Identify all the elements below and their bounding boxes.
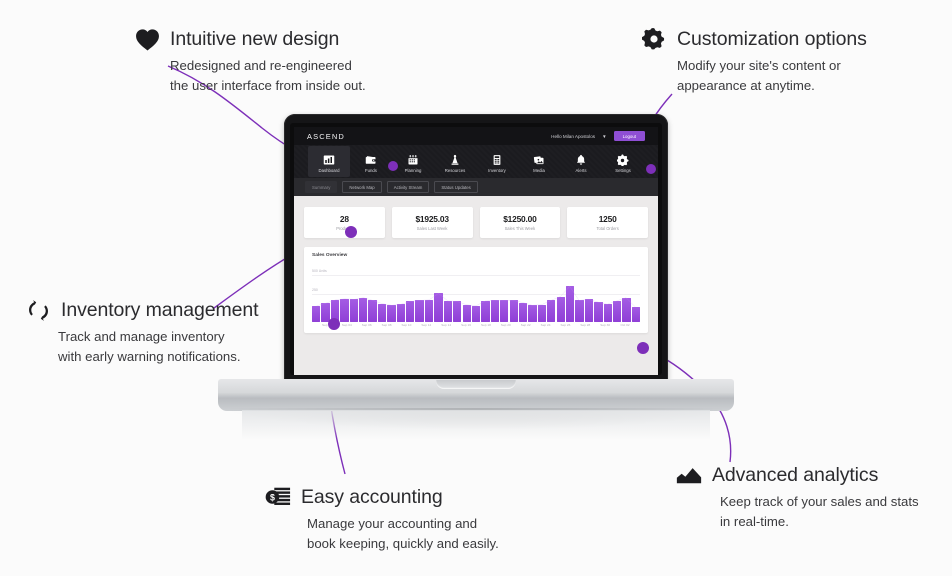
stat-card-sales-this-week[interactable]: $1250.00 Sales This Week (480, 207, 561, 238)
chart-x-label (312, 323, 322, 331)
callout-customization-options: Customization options Modify your site's… (641, 26, 867, 95)
chart-x-label (570, 323, 580, 331)
calculator-icon (491, 153, 504, 166)
chart-x-label: Sep 22 (521, 323, 531, 331)
callout-intuitive-new-design: Intuitive new design Redesigned and re-e… (134, 26, 366, 95)
user-greeting: Hello Milan Apostolos (551, 134, 595, 139)
chart-x-label (630, 323, 640, 331)
laptop-bezel: ASCEND Hello Milan Apostolos ▼ Logout (290, 123, 662, 375)
chart-x-label: Sep 28 (580, 323, 590, 331)
stat-value: 1250 (599, 214, 617, 224)
nav-label: Resources (445, 168, 466, 173)
chart-x-label (471, 323, 481, 331)
chart-x-label: Oct 02 (620, 323, 630, 331)
callout-header: Intuitive new design (134, 26, 366, 52)
wallet-icon (365, 153, 378, 166)
callout-title: Advanced analytics (712, 464, 878, 487)
laptop-mockup: ASCEND Hello Milan Apostolos ▼ Logout (218, 114, 734, 424)
area-chart-icon (676, 462, 702, 488)
nav-label: Alerts (576, 168, 587, 173)
nav-item-settings[interactable]: Settings (602, 146, 644, 177)
chart-x-label (431, 323, 441, 331)
chart-x-label (411, 323, 421, 331)
sales-overview-chart: Sales Overview 500 Units 250 Sep 02Sep 0… (304, 247, 648, 333)
tab-activity-stream[interactable]: Activity Stream (387, 181, 430, 193)
callout-description: Manage your accounting and book keeping,… (307, 514, 499, 553)
dashboard-nav: Dashboard Funds Planning (294, 145, 658, 178)
laptop-reflection (242, 410, 710, 440)
tab-network-map[interactable]: Network Map (342, 181, 381, 193)
tab-status-updates[interactable]: Status Updates (434, 181, 477, 193)
gear-icon (617, 153, 630, 166)
nav-item-funds[interactable]: Funds (350, 146, 392, 177)
chart-x-label (491, 323, 501, 331)
nav-label: Dashboard (318, 168, 339, 173)
svg-text:$: $ (270, 492, 275, 502)
app-logo: ASCEND (307, 132, 345, 141)
nav-label: Planning (405, 168, 422, 173)
stat-card-products[interactable]: 28 Products (304, 207, 385, 238)
photos-icon (533, 153, 546, 166)
nav-item-planning[interactable]: Planning (392, 146, 434, 177)
logout-button[interactable]: Logout (614, 131, 645, 141)
stat-label: Sales Last Week (417, 226, 448, 231)
dashboard-topbar: ASCEND Hello Milan Apostolos ▼ Logout (294, 127, 658, 145)
callout-title: Easy accounting (301, 486, 443, 509)
callout-advanced-analytics: Advanced analytics Keep track of your sa… (676, 462, 919, 531)
chart-x-label (590, 323, 600, 331)
chart-x-label (531, 323, 541, 331)
nav-item-media[interactable]: Media (518, 146, 560, 177)
chart-x-label: Sep 18 (481, 323, 491, 331)
topbar-right: Hello Milan Apostolos ▼ Logout (551, 131, 645, 141)
dashboard-tabbar: Summary Network Map Activity Stream Stat… (294, 178, 658, 196)
sync-arrows-icon (25, 297, 51, 323)
chart-x-label: Sep 04 (342, 323, 352, 331)
callout-description: Modify your site's content or appearance… (677, 56, 867, 95)
nav-label: Inventory (488, 168, 506, 173)
chart-x-label: Sep 14 (441, 323, 451, 331)
nav-item-resources[interactable]: Resources (434, 146, 476, 177)
tab-summary[interactable]: Summary (305, 181, 337, 193)
callout-description: Redesigned and re-engineered the user in… (170, 56, 366, 95)
stat-label: Total Orders (596, 226, 618, 231)
chart-x-label: Sep 08 (382, 323, 392, 331)
chart-x-label (551, 323, 561, 331)
stat-card-sales-last-week[interactable]: $1925.03 Sales Last Week (392, 207, 473, 238)
stat-label: Sales This Week (505, 226, 536, 231)
callout-header: $ Easy accounting (265, 484, 499, 510)
chart-x-axis: Sep 02Sep 04Sep 06Sep 08Sep 10Sep 12Sep … (312, 323, 640, 331)
chart-title: Sales Overview (312, 253, 640, 258)
stat-card-total-orders[interactable]: 1250 Total Orders (567, 207, 648, 238)
nav-label: Media (533, 168, 545, 173)
chart-x-label (451, 323, 461, 331)
chevron-down-icon[interactable]: ▼ (602, 134, 606, 139)
chart-x-label: Sep 10 (401, 323, 411, 331)
chart-x-label: Sep 06 (362, 323, 372, 331)
chart-x-label: Sep 12 (421, 323, 431, 331)
infographic-canvas: Intuitive new design Redesigned and re-e… (0, 0, 952, 576)
bell-icon (575, 153, 588, 166)
nav-item-dashboard[interactable]: Dashboard (308, 146, 350, 177)
chart-x-label (352, 323, 362, 331)
nav-item-alerts[interactable]: Alerts (560, 146, 602, 177)
gear-icon (641, 26, 667, 52)
chart-x-label (392, 323, 402, 331)
laptop-base (218, 379, 734, 411)
chart-x-label (511, 323, 521, 331)
stat-card-row: 28 Products $1925.03 Sales Last Week $12… (304, 207, 648, 238)
callout-easy-accounting: $ Easy accounting Manage your accounting… (265, 484, 499, 553)
stat-value: 28 (340, 214, 349, 224)
bar-chart-icon (323, 153, 336, 166)
callout-title: Intuitive new design (170, 28, 339, 51)
tower-icon (449, 153, 462, 166)
stat-label: Products (336, 226, 352, 231)
callout-title: Customization options (677, 28, 867, 51)
chart-x-label: Sep 30 (600, 323, 610, 331)
laptop-lid: ASCEND Hello Milan Apostolos ▼ Logout (284, 114, 668, 382)
callout-description: Keep track of your sales and stats in re… (720, 492, 919, 531)
callout-header: Customization options (641, 26, 867, 52)
chart-x-label (610, 323, 620, 331)
stat-value: $1250.00 (503, 214, 536, 224)
chart-plot-area: 500 Units 250 Sep 02Sep 04Sep 06Sep 08Se… (312, 261, 640, 331)
calendar-icon (407, 153, 420, 166)
dashboard-content: 28 Products $1925.03 Sales Last Week $12… (294, 196, 658, 375)
chart-x-label: Sep 24 (541, 323, 551, 331)
dashboard-screen: ASCEND Hello Milan Apostolos ▼ Logout (294, 127, 658, 375)
callout-header: Advanced analytics (676, 462, 919, 488)
chart-x-label: Sep 20 (501, 323, 511, 331)
money-coin-bills-icon: $ (265, 484, 291, 510)
heart-icon (134, 26, 160, 52)
chart-x-label (332, 323, 342, 331)
chart-x-label: Sep 02 (322, 323, 332, 331)
stat-value: $1925.03 (415, 214, 448, 224)
nav-label: Settings (615, 168, 631, 173)
nav-item-inventory[interactable]: Inventory (476, 146, 518, 177)
chart-x-label (372, 323, 382, 331)
chart-line (317, 286, 636, 307)
chart-trend-line (312, 268, 640, 322)
chart-x-label: Sep 26 (560, 323, 570, 331)
chart-x-label: Sep 16 (461, 323, 471, 331)
nav-label: Funds (365, 168, 377, 173)
